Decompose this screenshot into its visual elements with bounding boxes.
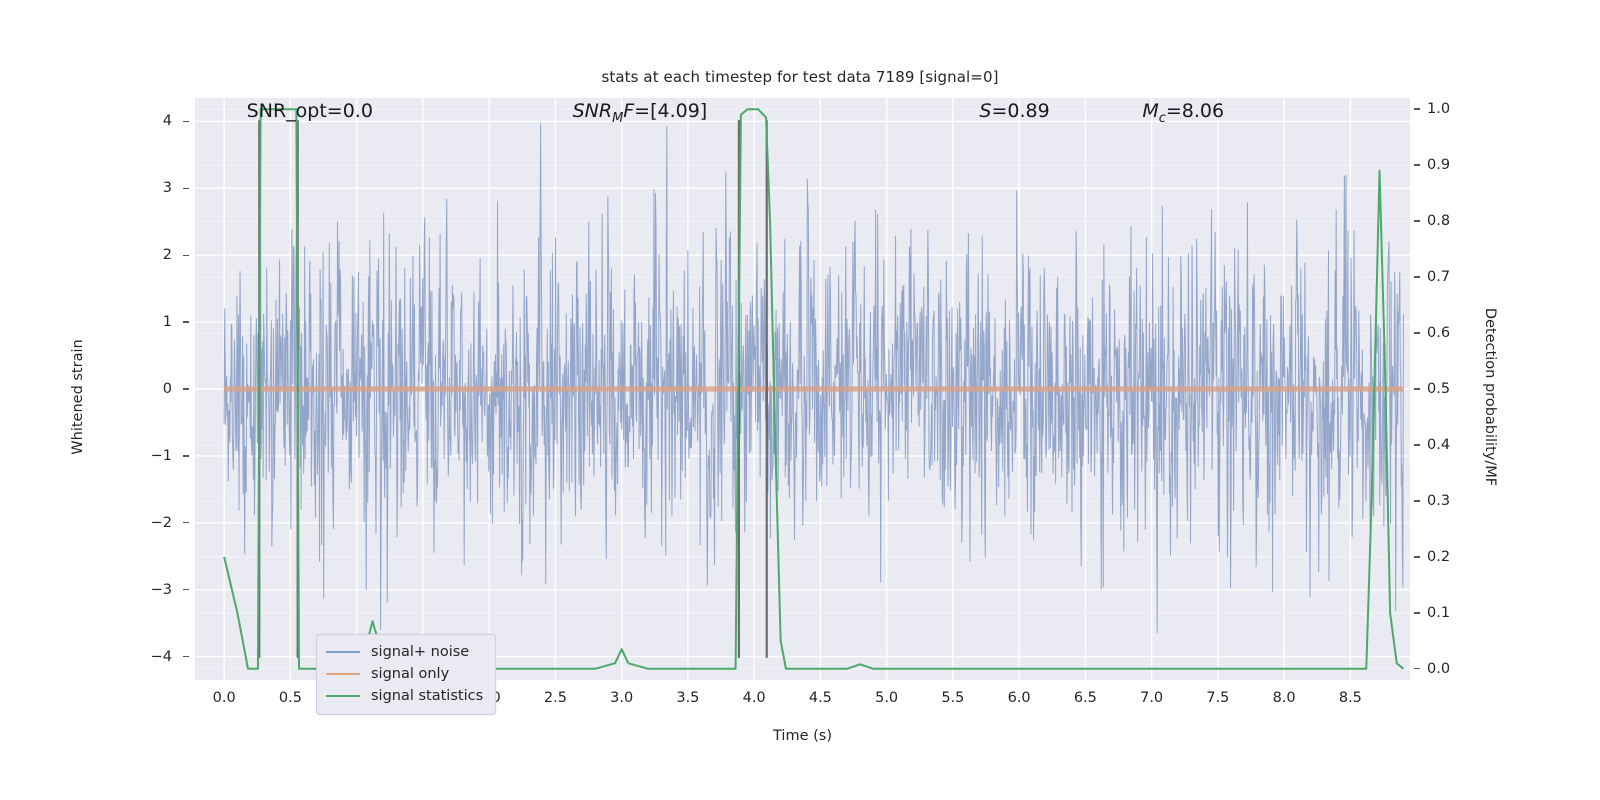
legend-swatch-icon [326, 695, 360, 697]
x-tick-label: 5.5 [923, 690, 983, 706]
x-tick-label: 4.0 [724, 690, 784, 706]
legend-item[interactable]: signal statistics [326, 685, 483, 707]
y-tick-mark-left [183, 255, 189, 256]
annotation-s-stat: S=0.89 [979, 100, 1049, 122]
y-tick-mark-right [1414, 668, 1420, 669]
y-axis-label-right: Detection probability/MF [1482, 267, 1498, 527]
y-tick-mark-left [183, 388, 189, 389]
y-tick-label-right: 0.2 [1427, 549, 1487, 565]
annotation-snr-opt: SNR_opt=0.0 [247, 100, 373, 122]
x-tick-label: 2.5 [525, 690, 585, 706]
x-tick-label: 8.5 [1320, 690, 1380, 706]
legend: signal+ noisesignal onlysignal statistic… [316, 634, 496, 715]
x-tick-label: 7.5 [1188, 690, 1248, 706]
annotation-snr-mf: SNRMF=[4.09] [573, 100, 708, 126]
y-tick-label-left: −2 [130, 515, 172, 531]
y-tick-mark-right [1414, 612, 1420, 613]
x-tick-label: 6.0 [989, 690, 1049, 706]
y-tick-label-left: −4 [130, 649, 172, 665]
legend-item-label: signal statistics [371, 688, 483, 704]
page-title: stats at each timestep for test data 718… [0, 68, 1600, 86]
y-tick-label-right: 0.0 [1427, 661, 1487, 677]
y-tick-mark-left [183, 455, 189, 456]
figure-canvas: stats at each timestep for test data 718… [0, 0, 1600, 800]
x-tick-label: 0.0 [194, 690, 254, 706]
y-tick-mark-right [1414, 108, 1420, 109]
x-tick-label: 7.0 [1122, 690, 1182, 706]
y-tick-mark-right [1414, 332, 1420, 333]
y-tick-label-right: 0.5 [1427, 381, 1487, 397]
y-tick-label-right: 0.1 [1427, 605, 1487, 621]
legend-item-label: signal+ noise [371, 644, 469, 660]
y-tick-label-right: 1.0 [1427, 101, 1487, 117]
chart-title-text: stats at each timestep for test data 718… [601, 68, 998, 86]
legend-swatch-icon [326, 651, 360, 653]
y-tick-mark-left [183, 321, 189, 322]
y-tick-label-left: −1 [130, 448, 172, 464]
y-tick-mark-right [1414, 164, 1420, 165]
y-tick-mark-right [1414, 556, 1420, 557]
y-tick-label-left: 4 [130, 113, 172, 129]
y-tick-label-left: 0 [130, 381, 172, 397]
y-tick-mark-right [1414, 388, 1420, 389]
y-tick-label-right: 0.7 [1427, 269, 1487, 285]
x-tick-label: 5.0 [857, 690, 917, 706]
y-tick-mark-right [1414, 444, 1420, 445]
x-tick-label: 3.5 [658, 690, 718, 706]
annotation-mchirp: Mc=8.06 [1142, 100, 1224, 126]
y-tick-mark-right [1414, 500, 1420, 501]
plot-canvas [195, 98, 1410, 680]
y-tick-label-left: −3 [130, 582, 172, 598]
legend-item[interactable]: signal+ noise [326, 641, 483, 663]
legend-swatch-icon [326, 673, 360, 675]
y-axis-label-left: Whitened strain [70, 267, 86, 527]
y-tick-mark-right [1414, 276, 1420, 277]
y-tick-label-right: 0.6 [1427, 325, 1487, 341]
x-tick-label: 4.5 [790, 690, 850, 706]
legend-item[interactable]: signal only [326, 663, 483, 685]
y-tick-label-left: 2 [130, 247, 172, 263]
y-tick-mark-left [183, 656, 189, 657]
y-tick-mark-left [183, 589, 189, 590]
y-tick-label-right: 0.8 [1427, 213, 1487, 229]
y-tick-label-right: 0.4 [1427, 437, 1487, 453]
y-tick-label-left: 3 [130, 180, 172, 196]
y-tick-mark-right [1414, 220, 1420, 221]
x-tick-label: 3.0 [592, 690, 652, 706]
plot-area [195, 98, 1410, 680]
y-tick-label-left: 1 [130, 314, 172, 330]
y-tick-mark-left [183, 522, 189, 523]
y-tick-label-right: 0.9 [1427, 157, 1487, 173]
legend-item-label: signal only [371, 666, 449, 682]
x-tick-label: 8.0 [1254, 690, 1314, 706]
x-axis-label: Time (s) [195, 728, 1410, 744]
y-tick-mark-left [183, 188, 189, 189]
y-tick-mark-left [183, 121, 189, 122]
x-tick-label: 0.5 [260, 690, 320, 706]
x-tick-label: 6.5 [1055, 690, 1115, 706]
y-tick-label-right: 0.3 [1427, 493, 1487, 509]
